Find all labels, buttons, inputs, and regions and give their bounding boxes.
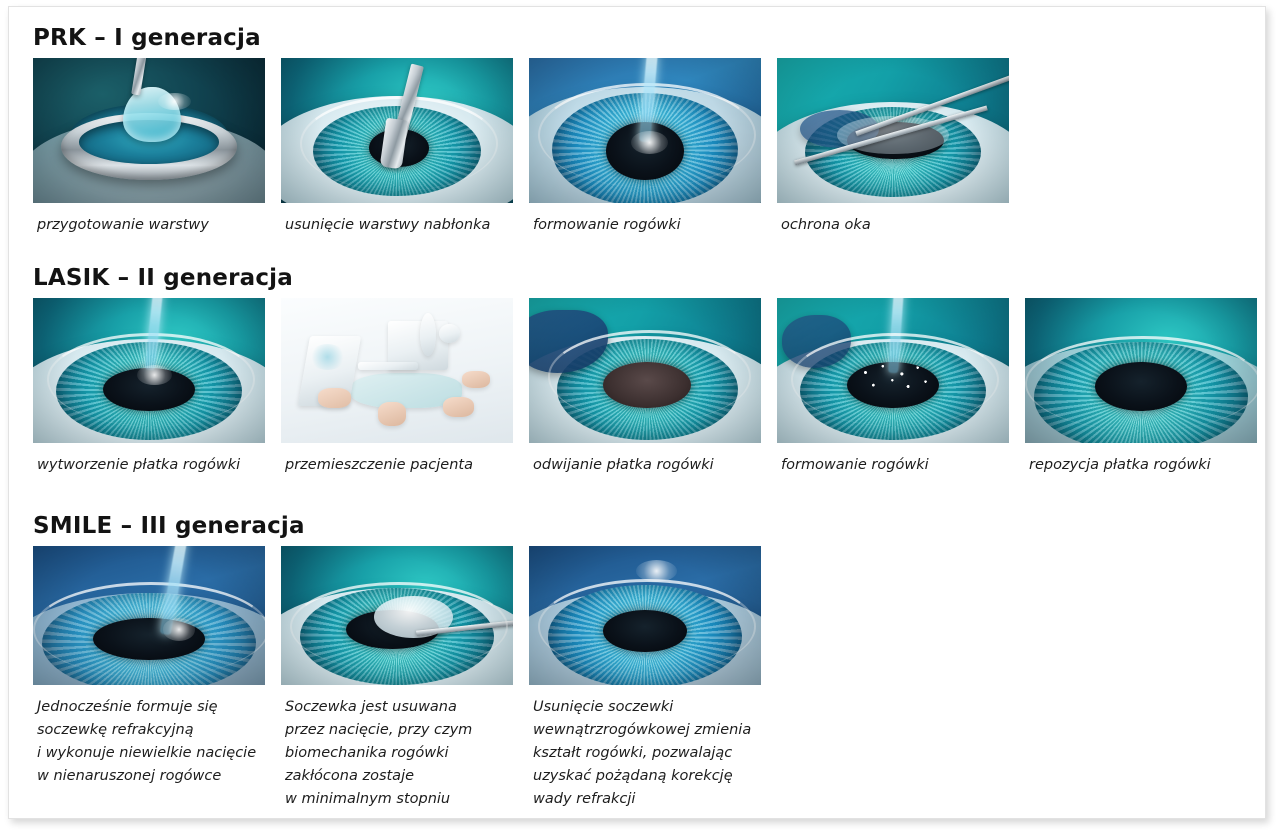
caption-smile-2: Soczewka jest usuwana przez nacięcie, pr… — [285, 696, 533, 811]
image-lasik-przemieszczenie-pacjenta — [281, 298, 513, 443]
panel-prk-3: formowanie rogówki — [529, 58, 761, 203]
panel-smile-1: Jednocześnie formuje się soczewkę refrak… — [33, 546, 265, 685]
staff-figure-front — [378, 402, 406, 425]
caption-prk-3: formowanie rogówki — [533, 214, 783, 237]
cornea-arc — [1025, 336, 1257, 432]
poster-frame: PRK – I generacja przygotowanie warstwy — [8, 6, 1266, 819]
cornea-arc — [538, 579, 755, 674]
image-smile-usuwanie-soczewki — [281, 546, 513, 685]
cornea-arc — [548, 330, 752, 423]
specular-highlight — [158, 93, 190, 110]
caption-prk-2: usunięcie warstwy nabłonka — [285, 214, 535, 237]
image-lasik-odwijanie-platka — [529, 298, 761, 443]
section-title-prk: PRK – I generacja — [33, 25, 261, 51]
support-rail — [358, 362, 418, 371]
caption-smile-3: Usunięcie soczewki wewnątrzrogówkowej zm… — [533, 696, 781, 811]
laser-impact-glow — [631, 131, 668, 154]
section-title-smile: SMILE – III generacja — [33, 513, 305, 539]
panel-lasik-3: odwijanie płatka rogówki — [529, 298, 761, 443]
image-prk-ochrona-oka — [777, 58, 1009, 203]
image-lasik-repozycja-platka — [1025, 298, 1257, 443]
caption-smile-1: Jednocześnie formuje się soczewkę refrak… — [37, 696, 285, 788]
staff-figure-right — [443, 397, 473, 417]
cornea-arc — [290, 582, 507, 671]
lenticule-glow — [163, 618, 195, 640]
panel-lasik-1: wytworzenie płatka rogówki — [33, 298, 265, 443]
image-lasik-formowanie-rogowki — [777, 298, 1009, 443]
caption-prk-4: ochrona oka — [781, 214, 1031, 237]
image-lasik-wytworzenie-platka — [33, 298, 265, 443]
image-prk-przygotowanie-warstwy — [33, 58, 265, 203]
eye-scene — [529, 546, 761, 685]
cornea-arc — [33, 582, 265, 677]
eye-scene — [529, 298, 761, 443]
laser-impact-glow — [137, 365, 172, 385]
poster-content: PRK – I generacja przygotowanie warstwy — [9, 7, 1265, 818]
image-prk-usuniecie-warstwy-nablonka — [281, 58, 513, 203]
eye-scene — [777, 58, 1009, 203]
caption-lasik-3: odwijanie płatka rogówki — [533, 454, 783, 477]
caption-prk-1: przygotowanie warstwy — [37, 214, 287, 237]
panel-prk-2: usunięcie warstwy nabłonka — [281, 58, 513, 203]
caption-lasik-1: wytworzenie płatka rogówki — [37, 454, 287, 477]
panel-lasik-2: przemieszczenie pacjenta — [281, 298, 513, 443]
panel-lasik-5: repozycja płatka rogówki — [1025, 298, 1257, 443]
eye-scene — [33, 298, 265, 443]
eye-scene — [281, 546, 513, 685]
specular-highlight — [636, 560, 678, 582]
section-title-lasik: LASIK – II generacja — [33, 265, 293, 291]
eye-scene — [33, 546, 265, 685]
panel-smile-2: Soczewka jest usuwana przez nacięcie, pr… — [281, 546, 513, 685]
eye-scene — [281, 58, 513, 203]
eye-scene — [1025, 298, 1257, 443]
operating-room-scene — [281, 298, 513, 443]
panel-lasik-4: formowanie rogówki — [777, 298, 1009, 443]
image-prk-formowanie-rogowki — [529, 58, 761, 203]
eye-scene — [33, 58, 265, 203]
panel-prk-1: przygotowanie warstwy — [33, 58, 265, 203]
eye-scene — [777, 298, 1009, 443]
image-smile-formowanie-soczewki — [33, 546, 265, 685]
panel-smile-3: Usunięcie soczewki wewnątrzrogówkowej zm… — [529, 546, 761, 685]
cornea-arc — [791, 333, 999, 426]
staff-figure-left — [318, 388, 350, 408]
eye-scene — [529, 58, 761, 203]
caption-lasik-5: repozycja płatka rogówki — [1029, 454, 1279, 477]
staff-figure-far — [462, 371, 490, 388]
caption-lasik-4: formowanie rogówki — [781, 454, 1031, 477]
panel-prk-4: ochrona oka — [777, 58, 1009, 203]
caption-lasik-2: przemieszczenie pacjenta — [285, 454, 535, 477]
articulation-joint — [439, 324, 460, 343]
image-smile-efekt-koncowy — [529, 546, 761, 685]
